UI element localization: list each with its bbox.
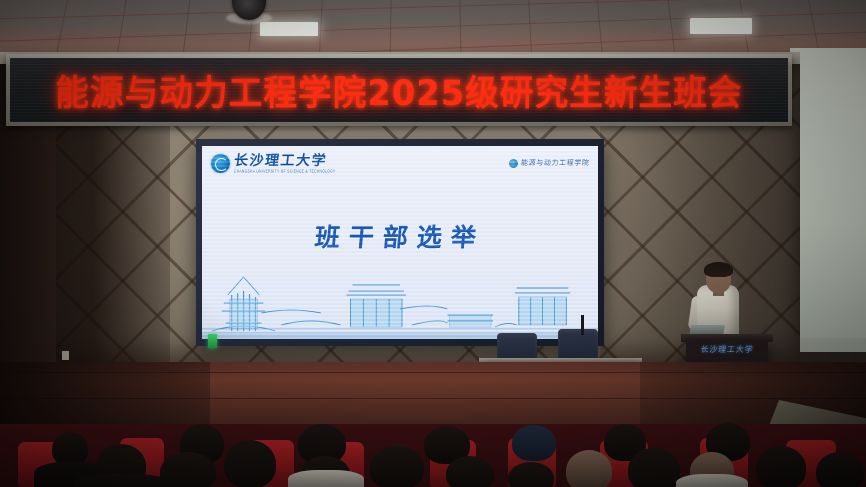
- university-logo: 长沙理工大学 CHANGSHA UNIVERSITY OF SCIENCE & …: [211, 154, 336, 173]
- slide-footer-bar: [202, 332, 598, 339]
- wall-switch[interactable]: [62, 351, 69, 360]
- speaker-hair: [704, 262, 733, 277]
- college-logo: 能源与动力工程学院: [509, 158, 589, 168]
- college-name-cn: 能源与动力工程学院: [520, 158, 589, 168]
- audience-head: [508, 462, 554, 487]
- right-wall-far: [790, 48, 866, 338]
- audience-shoulder: [74, 474, 170, 487]
- lecture-hall-photo: 能源与动力工程学院2025级研究生新生班会 长沙理工大学 CHANGSHA UN…: [0, 0, 866, 487]
- audience-head: [446, 456, 494, 487]
- campus-skyline-graphic: [202, 265, 598, 339]
- stage-shadow-left: [0, 362, 210, 432]
- slide-title: 班干部选举: [202, 218, 598, 254]
- slide-header: 长沙理工大学 CHANGSHA UNIVERSITY OF SCIENCE & …: [202, 146, 598, 180]
- audience-head: [512, 425, 556, 461]
- audience-head: [816, 452, 864, 487]
- ceiling-light-1: [260, 22, 318, 36]
- audience-head: [52, 432, 88, 466]
- led-banner-text: 能源与动力工程学院2025级研究生新生班会: [55, 65, 742, 116]
- university-logo-icon: [211, 154, 230, 173]
- audience-head: [224, 440, 276, 487]
- audience-head: [160, 452, 216, 487]
- university-name-cn: 长沙理工大学: [233, 154, 336, 168]
- audience-shoulder: [676, 474, 748, 487]
- college-logo-icon: [509, 159, 518, 168]
- podium-label: 长沙理工大学: [685, 344, 768, 355]
- university-name-en: CHANGSHA UNIVERSITY OF SCIENCE & TECHNOL…: [234, 168, 336, 174]
- led-screen: 能源与动力工程学院2025级研究生新生班会: [10, 58, 788, 122]
- microphone-stand-icon: [581, 315, 584, 335]
- ceiling-light-2: [690, 18, 752, 34]
- audience-head: [566, 450, 612, 487]
- projection-screen: 长沙理工大学 CHANGSHA UNIVERSITY OF SCIENCE & …: [196, 139, 604, 346]
- exit-sign-icon: [208, 334, 217, 348]
- presentation-slide: 长沙理工大学 CHANGSHA UNIVERSITY OF SCIENCE & …: [202, 146, 598, 339]
- led-banner: 能源与动力工程学院2025级研究生新生班会: [6, 54, 792, 126]
- audience-head: [370, 446, 424, 487]
- audience-head: [756, 446, 806, 487]
- audience-shoulder: [288, 470, 364, 487]
- audience-head: [628, 448, 680, 487]
